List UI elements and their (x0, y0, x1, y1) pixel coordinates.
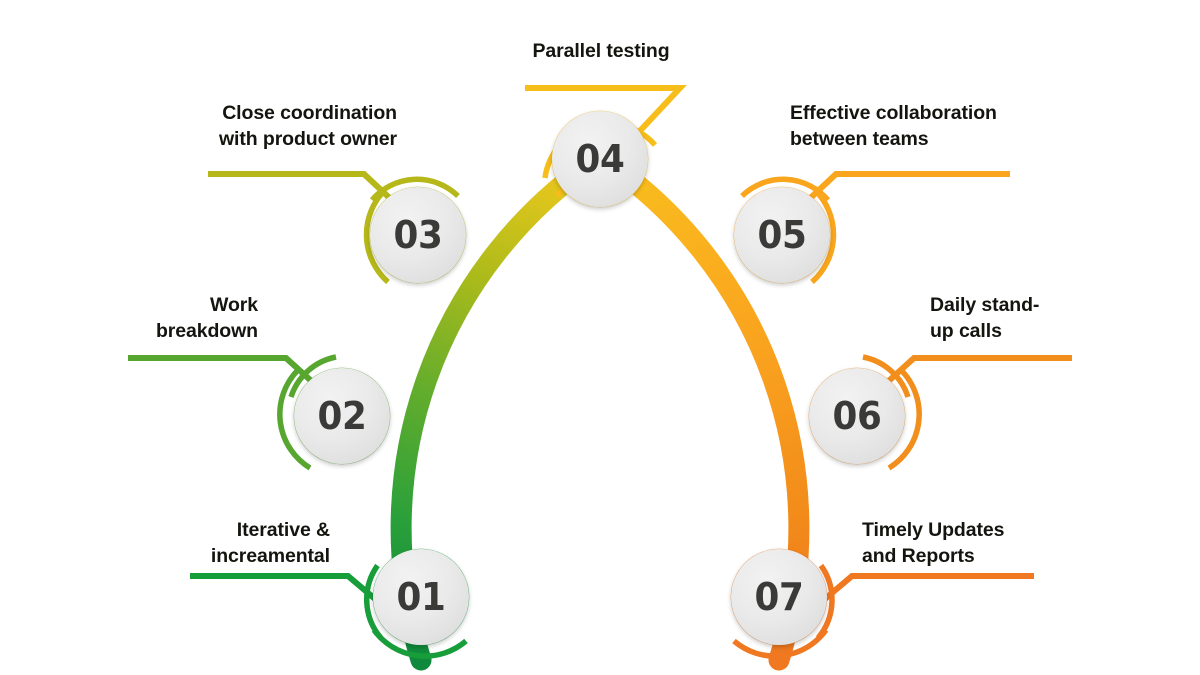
step-node-03[interactable]: 03 (370, 187, 466, 283)
step-node-06[interactable]: 06 (809, 368, 905, 464)
step-node-07[interactable]: 07 (731, 549, 827, 645)
step-node-04[interactable]: 04 (552, 111, 648, 207)
connector-07 (819, 576, 1034, 604)
step-label-04: Parallel testing (451, 39, 751, 65)
step-number-03: 03 (394, 216, 443, 254)
step-label-03: Close coordination with product owner (90, 101, 397, 153)
connector-05 (804, 174, 1010, 204)
step-number-06: 06 (833, 397, 882, 435)
step-number-01: 01 (397, 578, 446, 616)
step-label-02: Work breakdown (0, 293, 258, 345)
step-node-02[interactable]: 02 (294, 368, 390, 464)
step-number-07: 07 (755, 578, 804, 616)
step-number-02: 02 (318, 397, 367, 435)
step-label-07: Timely Updates and Reports (862, 518, 1142, 570)
step-label-06: Daily stand- up calls (930, 293, 1180, 345)
step-label-01: Iterative & increamental (60, 518, 330, 570)
connector-01 (190, 576, 381, 604)
step-number-05: 05 (758, 216, 807, 254)
infographic-canvas: 01 02 03 04 05 06 07 Iterative & incream… (0, 0, 1200, 675)
step-node-01[interactable]: 01 (373, 549, 469, 645)
step-number-04: 04 (576, 140, 625, 178)
step-node-05[interactable]: 05 (734, 187, 830, 283)
connector-03 (208, 174, 396, 204)
step-label-05: Effective collaboration between teams (790, 101, 1100, 153)
